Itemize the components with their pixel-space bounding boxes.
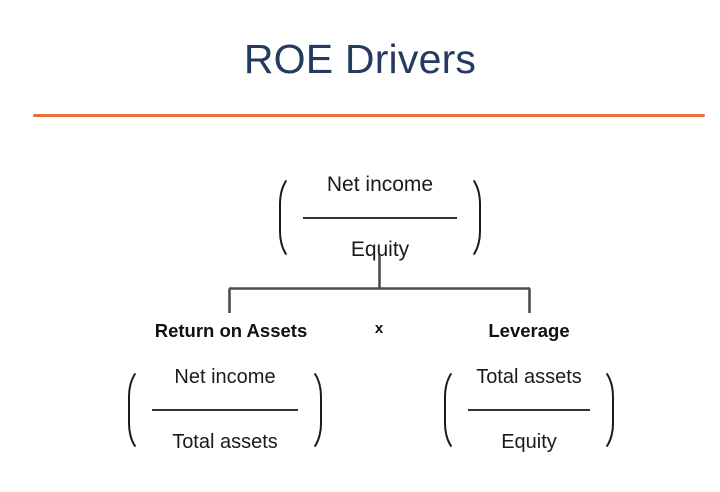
fraction-stack: Total assets Equity <box>462 366 596 454</box>
page-title: ROE Drivers <box>0 33 720 85</box>
fraction-stack: Net income Equity <box>297 173 463 262</box>
right-parenthesis-icon <box>463 173 481 262</box>
formula-roe-denominator: Equity <box>297 236 463 262</box>
title-divider-rule <box>33 114 705 117</box>
formula-leverage: Total assets Equity <box>444 366 614 454</box>
connector-tree <box>0 255 720 317</box>
formula-leverage-numerator: Total assets <box>462 366 596 389</box>
driver-label-return-on-assets: Return on Assets <box>131 320 331 342</box>
right-parenthesis-icon <box>304 366 322 454</box>
right-parenthesis-icon <box>596 366 614 454</box>
slide-canvas: ROE Drivers Net income Equity Return on … <box>0 0 720 492</box>
formula-return-on-assets: Net income Total assets <box>128 366 322 454</box>
fraction-bar <box>152 409 298 411</box>
formula-roa-numerator: Net income <box>146 366 304 389</box>
fraction-bar <box>468 409 590 411</box>
formula-roe: Net income Equity <box>279 173 481 262</box>
formula-roe-numerator: Net income <box>297 173 463 199</box>
fraction-bar <box>303 217 457 219</box>
left-parenthesis-icon <box>444 366 462 454</box>
multiplication-operator: x <box>349 320 409 337</box>
left-parenthesis-icon <box>128 366 146 454</box>
formula-leverage-denominator: Equity <box>462 431 596 454</box>
left-parenthesis-icon <box>279 173 297 262</box>
fraction-stack: Net income Total assets <box>146 366 304 454</box>
formula-roa-denominator: Total assets <box>146 431 304 454</box>
driver-label-leverage: Leverage <box>449 320 609 342</box>
